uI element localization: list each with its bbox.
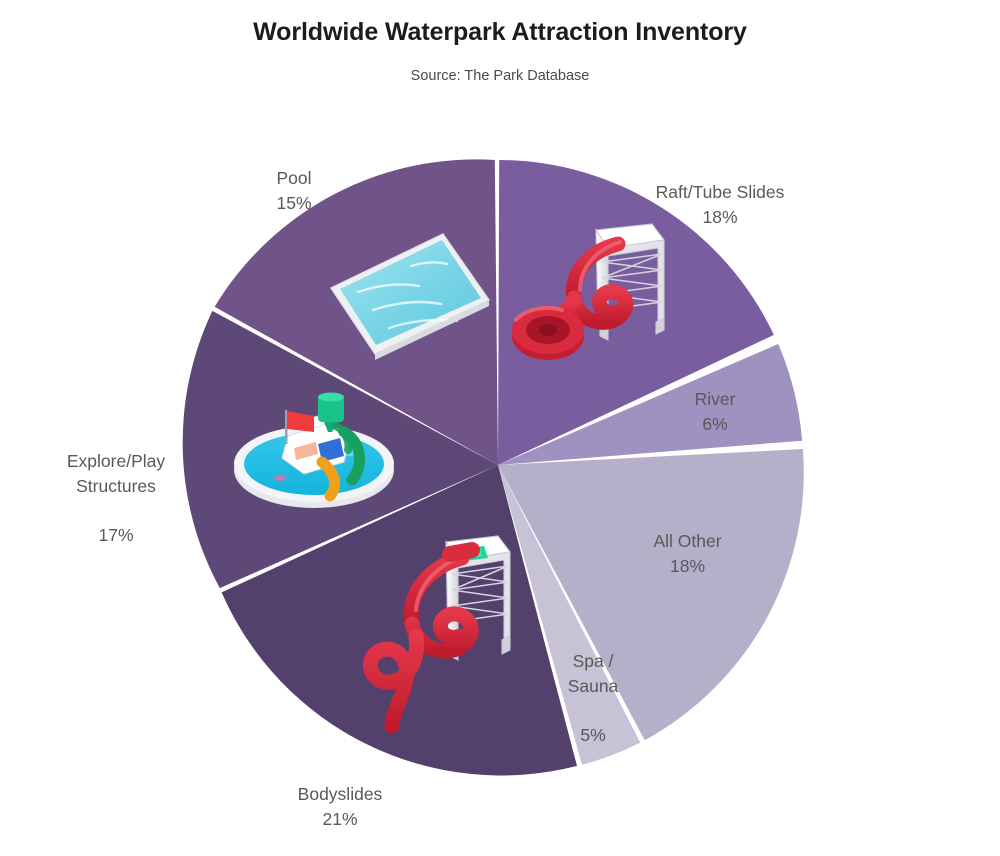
pie-plot-area: Pool 15% Raft/Tube Slides 18% River 6% A…: [0, 0, 1000, 840]
slide-funnel: [512, 306, 584, 360]
pie-svg: [0, 0, 1000, 840]
pie-chart-figure: Worldwide Waterpark Attraction Inventory…: [0, 0, 1000, 840]
